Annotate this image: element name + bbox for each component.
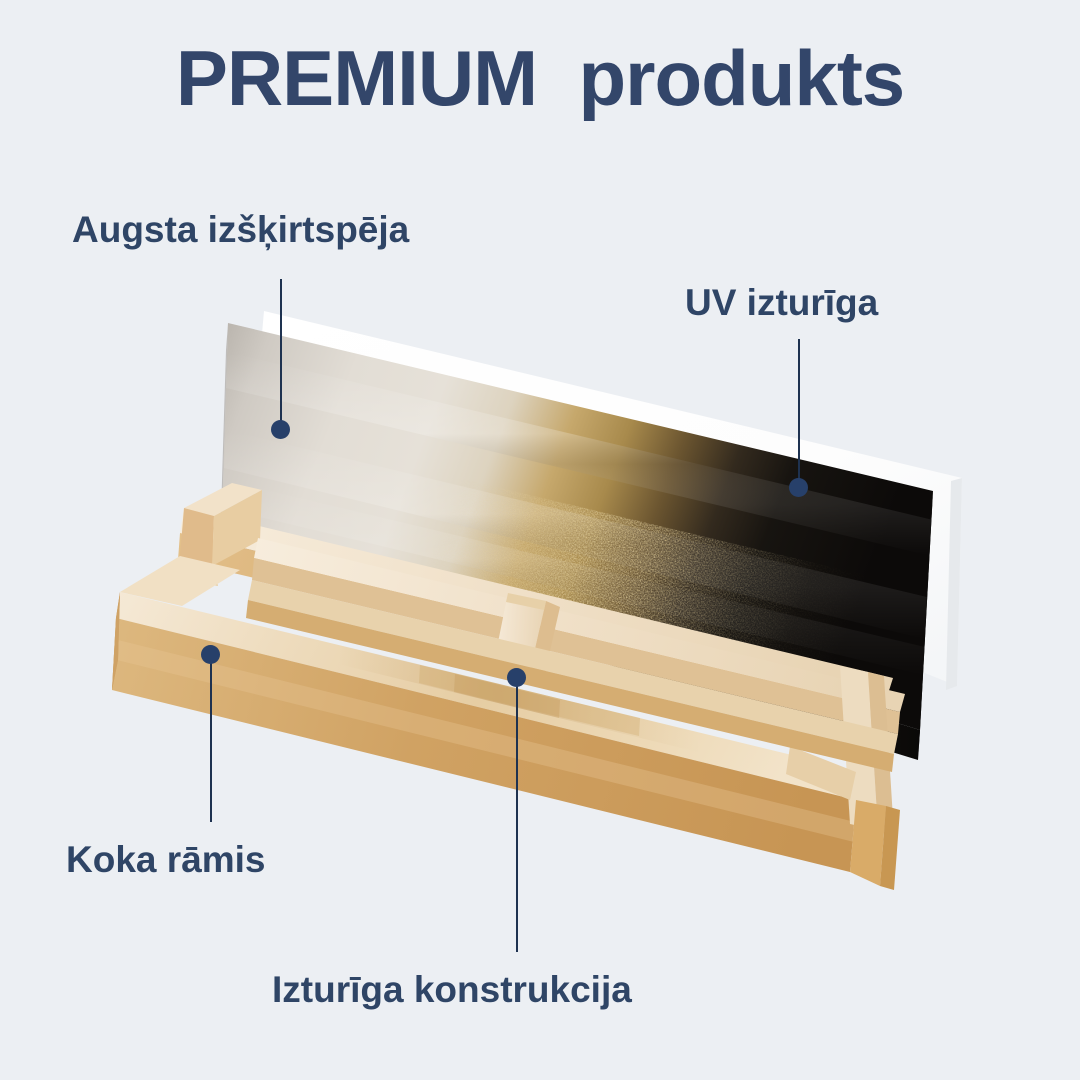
leader-line-uv [798,339,800,487]
page-title-strong: PREMIUM [176,34,537,122]
callout-label-durability: Izturīga konstrukcija [272,970,632,1011]
wooden-frame-layer [0,0,1080,1080]
exploded-product-illustration [0,0,1080,1080]
page-title: PREMIUM produkts [0,38,1080,120]
leader-line-wood-frame [210,657,212,822]
leader-line-durability [516,680,518,952]
leader-dot-uv [789,478,808,497]
callout-label-uv: UV izturīga [685,283,878,324]
leader-line-resolution [280,279,282,429]
leader-dot-wood-frame [201,645,220,664]
leader-dot-durability [507,668,526,687]
infographic-canvas: PREMIUM produkts Augsta izšķirtspēja UV … [0,0,1080,1080]
page-title-rest: produkts [579,34,905,122]
callout-label-wood-frame: Koka rāmis [66,840,266,881]
leader-dot-resolution [271,420,290,439]
callout-label-resolution: Augsta izšķirtspēja [72,210,409,251]
